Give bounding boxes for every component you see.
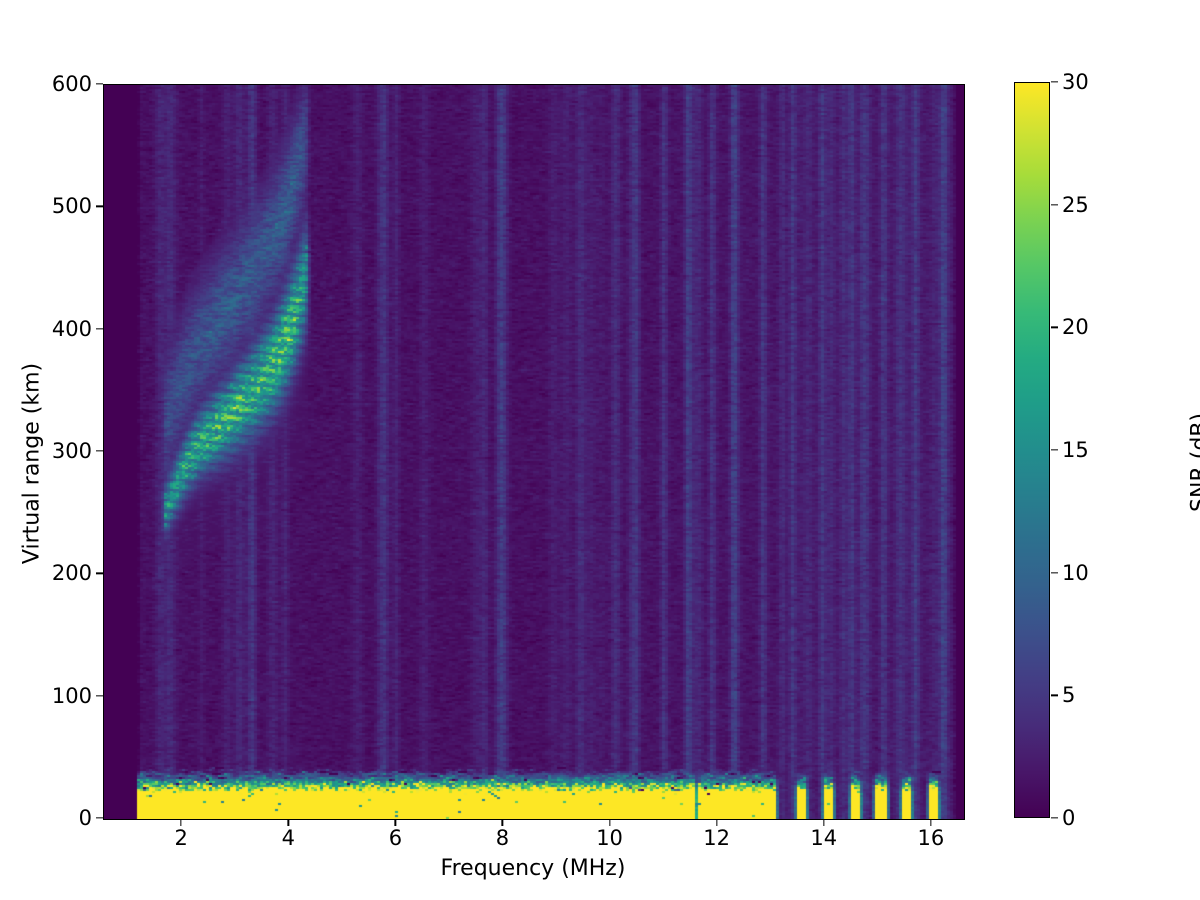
- x-axis-tick-mark: [395, 819, 396, 826]
- colorbar-tick-mark: [1051, 81, 1058, 82]
- y-axis-tick-label: 500: [12, 194, 92, 218]
- x-axis-tick-label: 2: [146, 826, 216, 850]
- y-axis-tick-label: 400: [12, 317, 92, 341]
- colorbar-tick-label: 30: [1062, 70, 1089, 94]
- y-axis-tick-mark: [96, 450, 103, 451]
- colorbar-tick-label: 25: [1062, 193, 1089, 217]
- y-axis-tick-mark: [96, 817, 103, 818]
- x-axis-tick-mark: [502, 819, 503, 826]
- ionogram-axes[interactable]: [103, 84, 965, 820]
- y-axis-tick-label: 100: [12, 684, 92, 708]
- colorbar-tick-label: 15: [1062, 438, 1089, 462]
- y-axis-tick-mark: [96, 573, 103, 574]
- x-axis-tick-mark: [609, 819, 610, 826]
- x-axis-tick-label: 12: [682, 826, 752, 850]
- x-axis-tick-label: 4: [253, 826, 323, 850]
- colorbar-tick-label: 0: [1062, 806, 1075, 830]
- y-axis-tick-mark: [96, 83, 103, 84]
- colorbar-tick-mark: [1051, 449, 1058, 450]
- x-axis-tick-label: 6: [360, 826, 430, 850]
- y-axis-tick-mark: [96, 328, 103, 329]
- x-axis-tick-mark: [716, 819, 717, 826]
- y-axis-tick-label: 0: [12, 806, 92, 830]
- ionogram-figure: IRF Kiruna Ionosonde KI167 2026-04-14 23…: [0, 0, 1200, 900]
- y-axis-tick-label: 600: [12, 72, 92, 96]
- x-axis-tick-mark: [181, 819, 182, 826]
- x-axis-tick-mark: [930, 819, 931, 826]
- x-axis-label: Frequency (MHz): [103, 856, 963, 881]
- x-axis-tick-label: 10: [575, 826, 645, 850]
- colorbar-tick-mark: [1051, 695, 1058, 696]
- colorbar-tick-label: 5: [1062, 683, 1075, 707]
- colorbar-tick-mark: [1051, 572, 1058, 573]
- x-axis-tick-label: 8: [467, 826, 537, 850]
- y-axis-label: Virtual range (km): [20, 344, 45, 584]
- y-axis-tick-mark: [96, 695, 103, 696]
- colorbar[interactable]: 302520151050: [1014, 82, 1050, 818]
- colorbar-label: SNR (dB): [1188, 333, 1200, 593]
- colorbar-tick-mark: [1051, 327, 1058, 328]
- x-axis-tick-mark: [288, 819, 289, 826]
- x-axis-tick-label: 16: [896, 826, 966, 850]
- x-axis-tick-mark: [823, 819, 824, 826]
- colorbar-tick-mark: [1051, 204, 1058, 205]
- x-axis-tick-label: 14: [789, 826, 859, 850]
- ionogram-heatmap[interactable]: [104, 85, 964, 819]
- y-axis-tick-mark: [96, 206, 103, 207]
- colorbar-tick-mark: [1051, 817, 1058, 818]
- colorbar-gradient: [1014, 82, 1050, 818]
- colorbar-tick-label: 20: [1062, 315, 1089, 339]
- colorbar-tick-label: 10: [1062, 561, 1089, 585]
